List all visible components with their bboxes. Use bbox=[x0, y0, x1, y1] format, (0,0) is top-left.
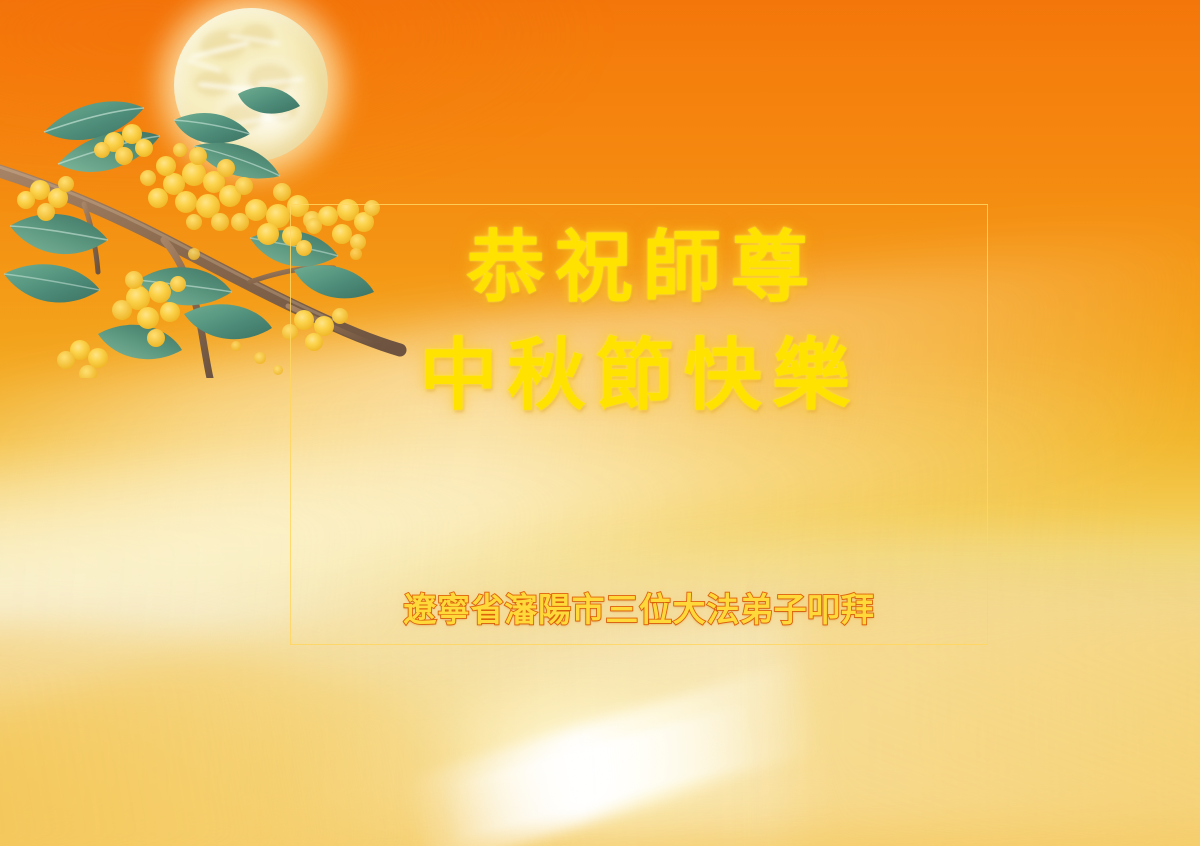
background-dune-lower-left bbox=[0, 626, 552, 846]
signature-block: 遼寧省瀋陽市三位大法弟子叩拜 bbox=[290, 583, 988, 631]
background-light-streak bbox=[403, 661, 820, 846]
background-glow-pool bbox=[432, 677, 744, 829]
greeting-card: 恭祝師尊 中秋節快樂 遼寧省瀋陽市三位大法弟子叩拜 bbox=[0, 0, 1200, 846]
background-light-streak-secondary bbox=[442, 705, 759, 843]
greeting-line-2: 中秋節快樂 bbox=[290, 323, 988, 431]
greeting-block: 恭祝師尊 中秋節快樂 bbox=[290, 215, 988, 430]
greeting-line-1: 恭祝師尊 bbox=[290, 215, 988, 323]
signature-text: 遼寧省瀋陽市三位大法弟子叩拜 bbox=[403, 590, 874, 629]
background-light-band-lower bbox=[0, 629, 1200, 846]
